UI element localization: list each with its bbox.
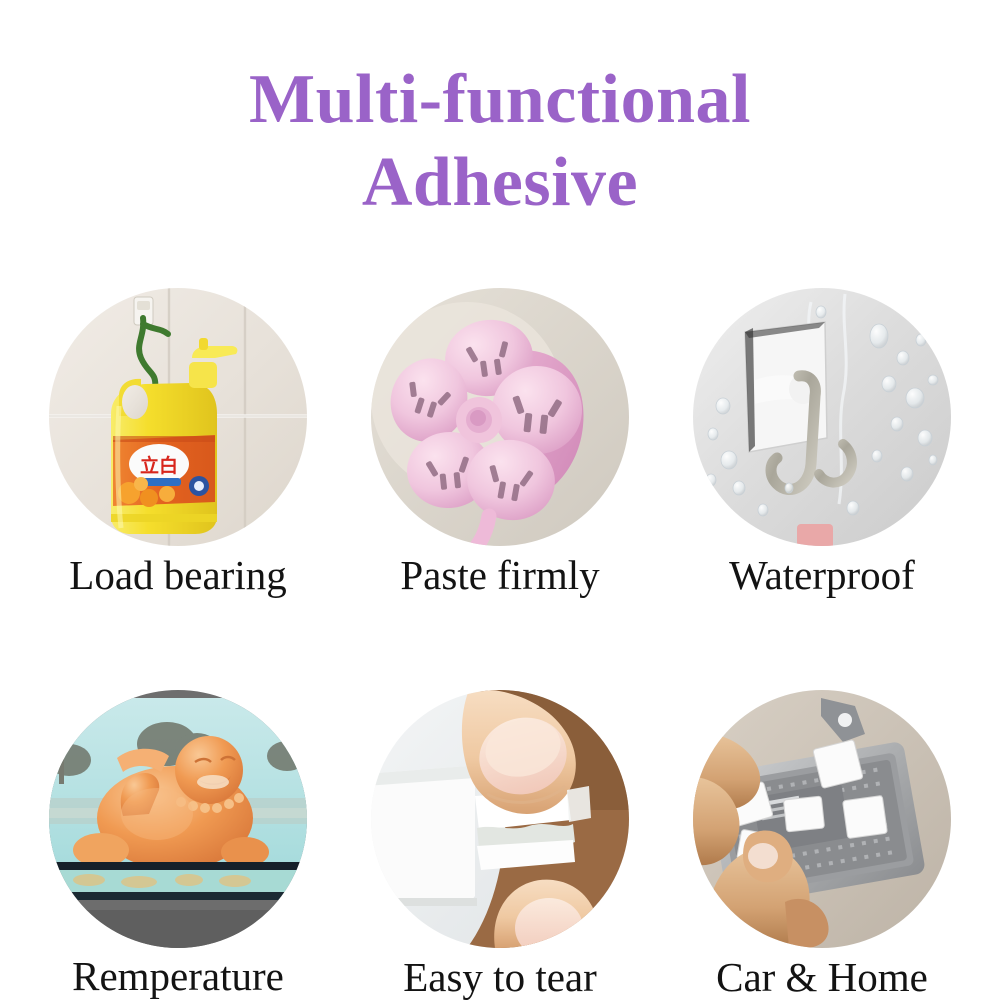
photo-load-bearing: 立白: [49, 288, 307, 546]
feature-temperature-resistance: Remperature resistance: [49, 690, 307, 1000]
photo-easy-to-tear: [371, 690, 629, 948]
photo-paste-firmly: [371, 288, 629, 546]
svg-text:立白: 立白: [140, 454, 178, 477]
feature-row-top: 立白: [0, 288, 1000, 598]
feature-paste-firmly: Paste firmly: [371, 288, 629, 598]
caption-line-1: Remperature: [72, 953, 284, 999]
feature-car-and-home: Car & Home: [693, 690, 951, 1000]
feature-caption-easy-to-tear: Easy to tear: [403, 954, 597, 1000]
feature-caption-car-and-home: Car & Home: [716, 954, 928, 1000]
photo-waterproof: [693, 288, 951, 546]
product-infographic-page: Multi-functional Adhesive: [0, 0, 1000, 1000]
photo-car-and-home: [693, 690, 951, 948]
photo-temperature-resistance: [49, 690, 307, 948]
feature-caption-load-bearing: Load bearing: [69, 552, 286, 598]
page-title-line-2: Adhesive: [0, 141, 1000, 224]
feature-easy-to-tear: Easy to tear: [371, 690, 629, 1000]
feature-caption-temperature-resistance: Remperature resistance: [72, 954, 284, 1000]
feature-row-bottom: Remperature resistance: [0, 690, 1000, 1000]
feature-waterproof: Waterproof: [693, 288, 951, 598]
feature-caption-paste-firmly: Paste firmly: [400, 552, 599, 598]
feature-grid: 立白: [0, 288, 1000, 1000]
feature-caption-waterproof: Waterproof: [729, 552, 915, 598]
feature-load-bearing: 立白: [49, 288, 307, 598]
page-title: Multi-functional Adhesive: [0, 58, 1000, 224]
page-title-line-1: Multi-functional: [0, 58, 1000, 141]
